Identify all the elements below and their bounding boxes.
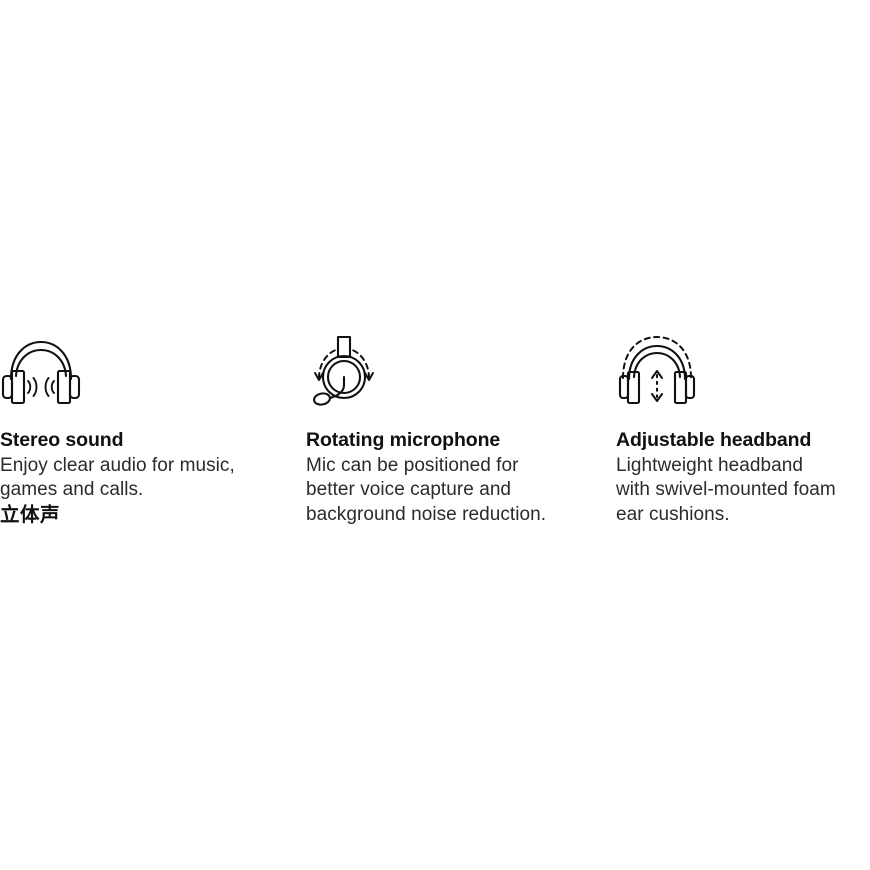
rotating-microphone-icon — [306, 332, 586, 412]
feature-description-line: ear cushions. — [616, 504, 730, 525]
feature-description-line: Enjoy clear audio for music, — [0, 455, 235, 476]
headphones-sound-waves-icon — [0, 332, 266, 412]
feature-title: Adjustable headband — [616, 428, 870, 453]
feature-description-line: Lightweight headband — [616, 455, 803, 476]
feature-description-line: better voice capture and — [306, 479, 511, 500]
feature-item-adjustable-headband: Adjustable headband Lightweight headband… — [616, 332, 870, 527]
feature-highlights-board: Stereo sound Enjoy clear audio for music… — [0, 0, 870, 870]
adjustable-headband-icon — [616, 332, 870, 412]
feature-description-line: games and calls. — [0, 479, 143, 500]
feature-description-cjk: 立体声 — [0, 503, 266, 528]
feature-description: Lightweight headband with swivel-mounted… — [616, 454, 870, 527]
feature-description: Mic can be positioned for better voice c… — [306, 454, 586, 527]
feature-description-line: background noise reduction. — [306, 504, 546, 525]
feature-list: Stereo sound Enjoy clear audio for music… — [0, 332, 870, 528]
feature-title: Rotating microphone — [306, 428, 586, 453]
feature-item-rotating-microphone: Rotating microphone Mic can be positione… — [306, 332, 616, 527]
feature-title: Stereo sound — [0, 428, 266, 453]
feature-item-stereo-sound: Stereo sound Enjoy clear audio for music… — [0, 332, 306, 528]
feature-description: Enjoy clear audio for music, games and c… — [0, 454, 266, 503]
feature-description-line: Mic can be positioned for — [306, 455, 518, 476]
feature-description-line: with swivel-mounted foam — [616, 479, 836, 500]
